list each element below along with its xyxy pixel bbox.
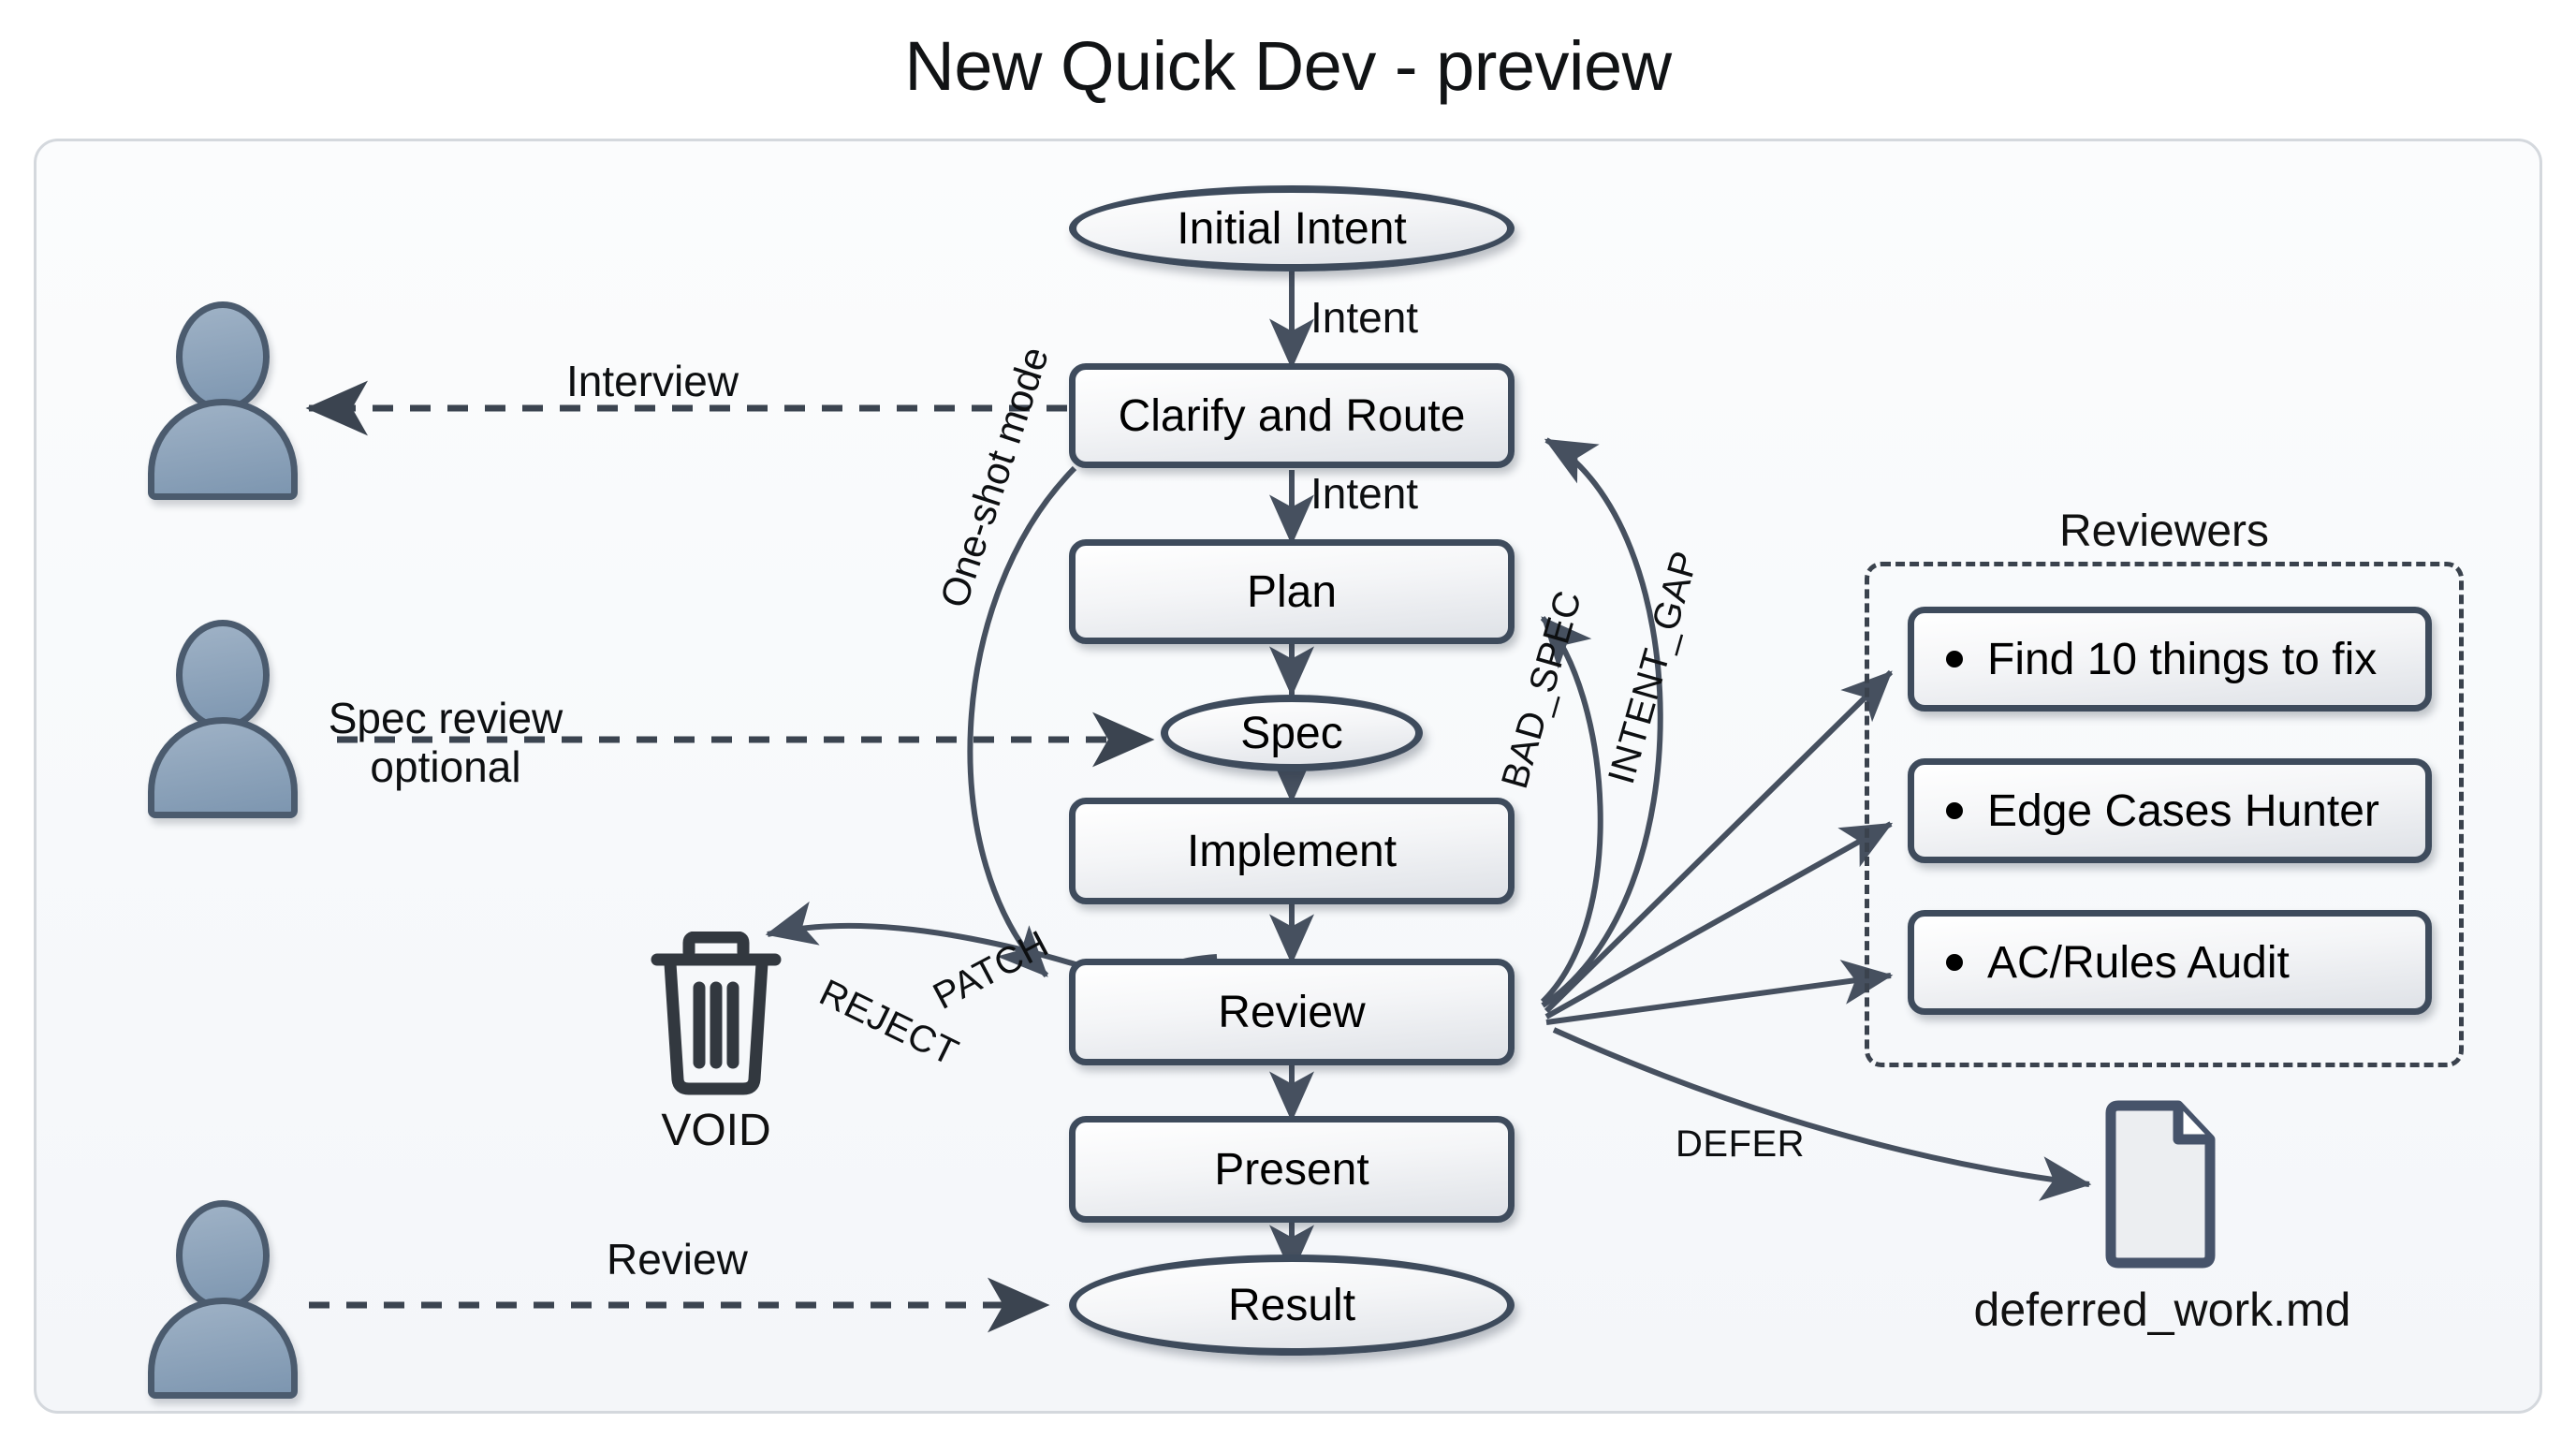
- bullet-icon: [1946, 954, 1963, 971]
- node-present[interactable]: Present: [1069, 1116, 1515, 1223]
- actor-body-icon: [148, 717, 298, 818]
- reviewer-edge-cases-hunter[interactable]: Edge Cases Hunter: [1908, 758, 2432, 863]
- deferred-work-file-label: deferred_work.md: [1928, 1283, 2396, 1337]
- actor-body-icon: [148, 399, 298, 500]
- actor-head-icon: [176, 620, 270, 730]
- actor-interviewee[interactable]: [148, 301, 298, 489]
- reviewer-label: Edge Cases Hunter: [1987, 785, 2379, 837]
- edge-label-defer: DEFER: [1676, 1123, 1805, 1166]
- node-label: Plan: [1247, 566, 1337, 618]
- reviewer-ac-rules-audit[interactable]: AC/Rules Audit: [1908, 910, 2432, 1015]
- node-label: Result: [1228, 1280, 1355, 1331]
- node-label: Spec: [1240, 708, 1342, 759]
- actor-body-icon: [148, 1298, 298, 1399]
- node-review[interactable]: Review: [1069, 959, 1515, 1065]
- bullet-icon: [1946, 651, 1963, 668]
- bullet-icon: [1946, 802, 1963, 819]
- node-label: Review: [1218, 987, 1365, 1038]
- page-title: New Quick Dev - preview: [0, 26, 2576, 106]
- actor-head-icon: [176, 1200, 270, 1311]
- reviewer-label: AC/Rules Audit: [1987, 937, 2290, 989]
- reviewers-cluster-title: Reviewers: [1865, 506, 2464, 557]
- node-label: Implement: [1187, 826, 1397, 877]
- reviewer-find-10-things-to-fix[interactable]: Find 10 things to fix: [1908, 607, 2432, 712]
- node-label: Initial Intent: [1177, 203, 1406, 255]
- node-label: Clarify and Route: [1119, 390, 1466, 442]
- spec-review-line1: Spec review: [305, 695, 586, 743]
- node-spec[interactable]: Spec: [1161, 695, 1423, 771]
- spec-review-line2: optional: [305, 743, 586, 792]
- edge-label-spec-review-optional: Spec review optional: [305, 695, 586, 791]
- edge-label-review-result: Review: [607, 1234, 748, 1284]
- actor-spec-reviewer[interactable]: [148, 620, 298, 807]
- trash-icon: [646, 932, 786, 1095]
- edge-label-intent-mid: Intent: [1310, 468, 1418, 519]
- node-label: Present: [1214, 1144, 1368, 1196]
- node-result[interactable]: Result: [1069, 1255, 1515, 1356]
- node-initial-intent[interactable]: Initial Intent: [1069, 185, 1515, 271]
- node-implement[interactable]: Implement: [1069, 798, 1515, 904]
- reviewer-label: Find 10 things to fix: [1987, 634, 2377, 685]
- edge-label-interview: Interview: [566, 356, 739, 406]
- node-plan[interactable]: Plan: [1069, 539, 1515, 644]
- diagram-root: New Quick Dev - preview: [0, 0, 2576, 1438]
- node-clarify-and-route[interactable]: Clarify and Route: [1069, 363, 1515, 468]
- edge-label-intent-top: Intent: [1310, 292, 1418, 343]
- actor-result-reviewer[interactable]: [148, 1200, 298, 1387]
- file-document-icon: [2101, 1100, 2218, 1269]
- actor-head-icon: [176, 301, 270, 412]
- void-label: VOID: [599, 1105, 833, 1156]
